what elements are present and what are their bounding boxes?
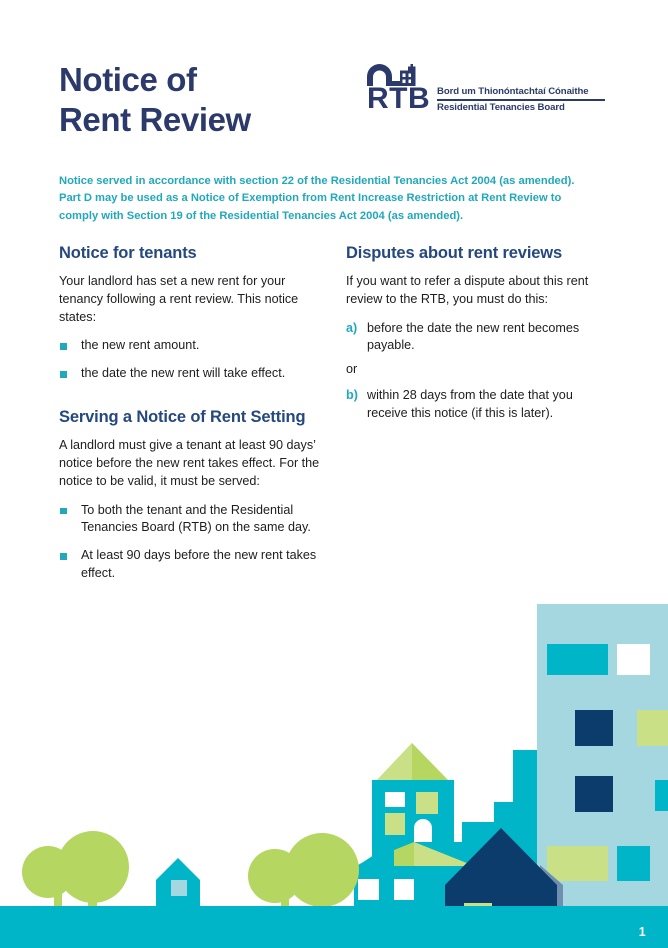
serving-notice-intro: A landlord must give a tenant at least 9…: [59, 437, 325, 491]
dispute-options-conjunction: or: [346, 361, 608, 379]
square-bullet-icon: [60, 371, 67, 378]
logo-divider: [437, 99, 605, 100]
page-number: 1: [639, 925, 646, 939]
list-item-label: To both the tenant and the Residential T…: [81, 503, 311, 535]
rtb-name-irish: Bord um Thionóntachtaí Cónaithe: [437, 86, 607, 99]
small-teal-house: [156, 858, 200, 907]
rtb-wordmark: Bord um Thionóntachtaí Cónaithe Resident…: [437, 86, 607, 115]
right-column: Disputes about rent reviews If you want …: [346, 244, 608, 427]
option-a-marker: a): [346, 320, 357, 338]
square-bullet-icon: [60, 508, 67, 515]
page-title: Notice of Rent Review: [59, 60, 359, 141]
left-column: Notice for tenants Your landlord has set…: [59, 244, 325, 593]
ground-bar: [0, 906, 668, 948]
list-item: To both the tenant and the Residential T…: [59, 502, 325, 538]
serving-notice-bullets: To both the tenant and the Residential T…: [59, 502, 325, 584]
list-item-label: the new rent amount.: [81, 338, 199, 352]
rtb-acronym: RTB: [367, 84, 430, 114]
dispute-option-a: a) before the date the new rent becomes …: [346, 320, 608, 356]
document-page: Notice of Rent Review RTB Bord um Thionó…: [0, 0, 668, 948]
disputes-intro: If you want to refer a dispute about thi…: [346, 273, 608, 309]
list-item: the date the new rent will take effect.: [59, 365, 325, 383]
legal-statement: Notice served in accordance with section…: [59, 173, 599, 225]
rtb-logo: RTB Bord um Thionóntachtaí Cónaithe Resi…: [367, 64, 607, 124]
option-b-marker: b): [346, 387, 358, 405]
city-skyline-houses-trees-illustration: 1: [0, 580, 668, 948]
list-item: the new rent amount.: [59, 337, 325, 355]
section-heading-disputes: Disputes about rent reviews: [346, 244, 608, 264]
rtb-name-english: Residential Tenancies Board: [437, 102, 607, 115]
square-bullet-icon: [60, 553, 67, 560]
dispute-option-b: b) within 28 days from the date that you…: [346, 387, 608, 423]
notice-for-tenants-bullets: the new rent amount. the date the new re…: [59, 337, 325, 383]
list-item-label: the date the new rent will take effect.: [81, 366, 285, 380]
list-item: At least 90 days before the new rent tak…: [59, 547, 325, 583]
option-a-text: before the date the new rent becomes pay…: [367, 321, 579, 353]
list-item-label: At least 90 days before the new rent tak…: [81, 548, 316, 580]
notice-for-tenants-intro: Your landlord has set a new rent for you…: [59, 273, 325, 327]
document-header: Notice of Rent Review RTB Bord um Thionó…: [0, 0, 668, 160]
section-heading-notice-for-tenants: Notice for tenants: [59, 244, 325, 264]
option-b-text: within 28 days from the date that you re…: [367, 388, 573, 420]
section-heading-serving-notice: Serving a Notice of Rent Setting: [59, 408, 325, 428]
square-bullet-icon: [60, 343, 67, 350]
